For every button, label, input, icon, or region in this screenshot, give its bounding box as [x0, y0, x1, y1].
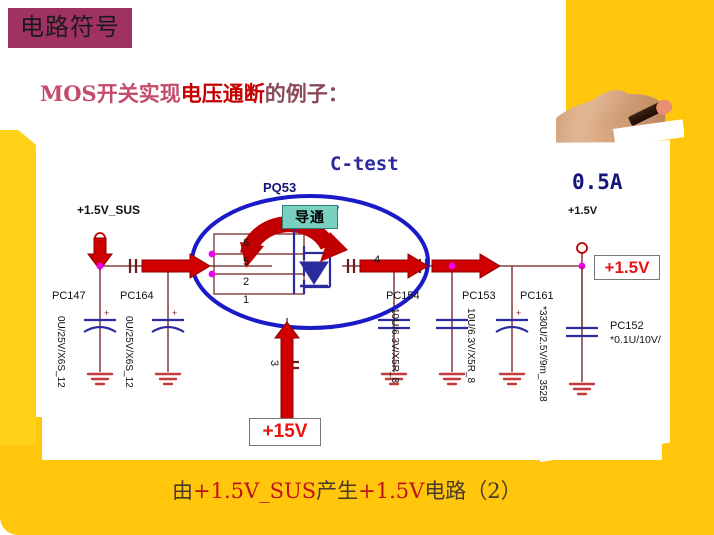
- cap-value-pc152: *0.1U/10V/: [610, 334, 661, 347]
- svg-text:+: +: [172, 308, 177, 318]
- subtitle-prefix: MOS开关实现: [40, 81, 181, 106]
- capacitor-symbols: [84, 320, 598, 336]
- label-mosfet-ref: PQ53: [263, 180, 296, 195]
- label-c-test: C-test: [330, 153, 399, 175]
- cap-ref-pc154: PC154: [386, 290, 420, 302]
- cap-ref-pc161: PC161: [520, 290, 554, 302]
- cap-value-pc147: 0U/25V/X6S_12: [55, 316, 66, 388]
- pin-label-5: 5: [243, 256, 249, 268]
- mosfet-state-badge: 导通: [282, 205, 338, 229]
- label-output-small: +1.5V: [568, 205, 597, 217]
- gate-drive-voltage-box: +15V: [249, 418, 321, 446]
- svg-text:+: +: [516, 308, 521, 318]
- caption-output: +1.5V: [358, 479, 424, 503]
- cap-value-pc161: *330U/2.5V/9m_3528: [537, 306, 548, 402]
- cap-ref-pc147: PC147: [52, 290, 86, 302]
- pin-label-3: 3: [268, 360, 280, 366]
- slide-canvas: 电路符号 MOS开关实现电压通断的例子：: [0, 0, 714, 535]
- subtitle-suffix: 的例子：: [265, 81, 349, 106]
- pin-label-6: 6: [243, 237, 249, 249]
- caption-middle: 产生: [316, 479, 358, 503]
- cap-value-pc154: 10U/6.3V/X5R_8: [389, 308, 400, 383]
- slide-caption: 由+1.5V_SUS产生+1.5V电路（2）: [172, 478, 522, 504]
- pin-label-2: 2: [243, 276, 249, 288]
- caption-source: +1.5V_SUS: [193, 479, 316, 503]
- caption-tail: 电路（2）: [424, 479, 521, 503]
- label-input-net: +1.5V_SUS: [77, 203, 140, 217]
- cap-value-pc164: 0U/25V/X6S_12: [123, 316, 134, 388]
- pin-label-1: 1: [243, 294, 249, 306]
- cap-ref-pc164: PC164: [120, 290, 154, 302]
- caption-lead: 由: [172, 479, 193, 503]
- pin-label-4: 4: [374, 254, 380, 266]
- subtitle-line: MOS开关实现电压通断的例子：: [40, 80, 349, 108]
- output-voltage-box: +1.5V: [594, 255, 660, 280]
- yellow-left-band: [0, 115, 36, 445]
- cap-value-pc153: 10U/6.3V/X5R_8: [465, 308, 476, 383]
- cap-ref-pc153: PC153: [462, 290, 496, 302]
- svg-text:+: +: [104, 308, 109, 318]
- page-title: 电路符号: [8, 8, 132, 48]
- schematic-drawing: + + +: [42, 142, 662, 462]
- ground-symbols: [88, 374, 594, 394]
- cap-ref-pc152: PC152: [610, 320, 644, 332]
- cap-pin-numbers: + + +: [104, 308, 521, 318]
- subtitle-highlight: 电压通断: [181, 81, 265, 106]
- label-current: 0.5A: [572, 170, 623, 194]
